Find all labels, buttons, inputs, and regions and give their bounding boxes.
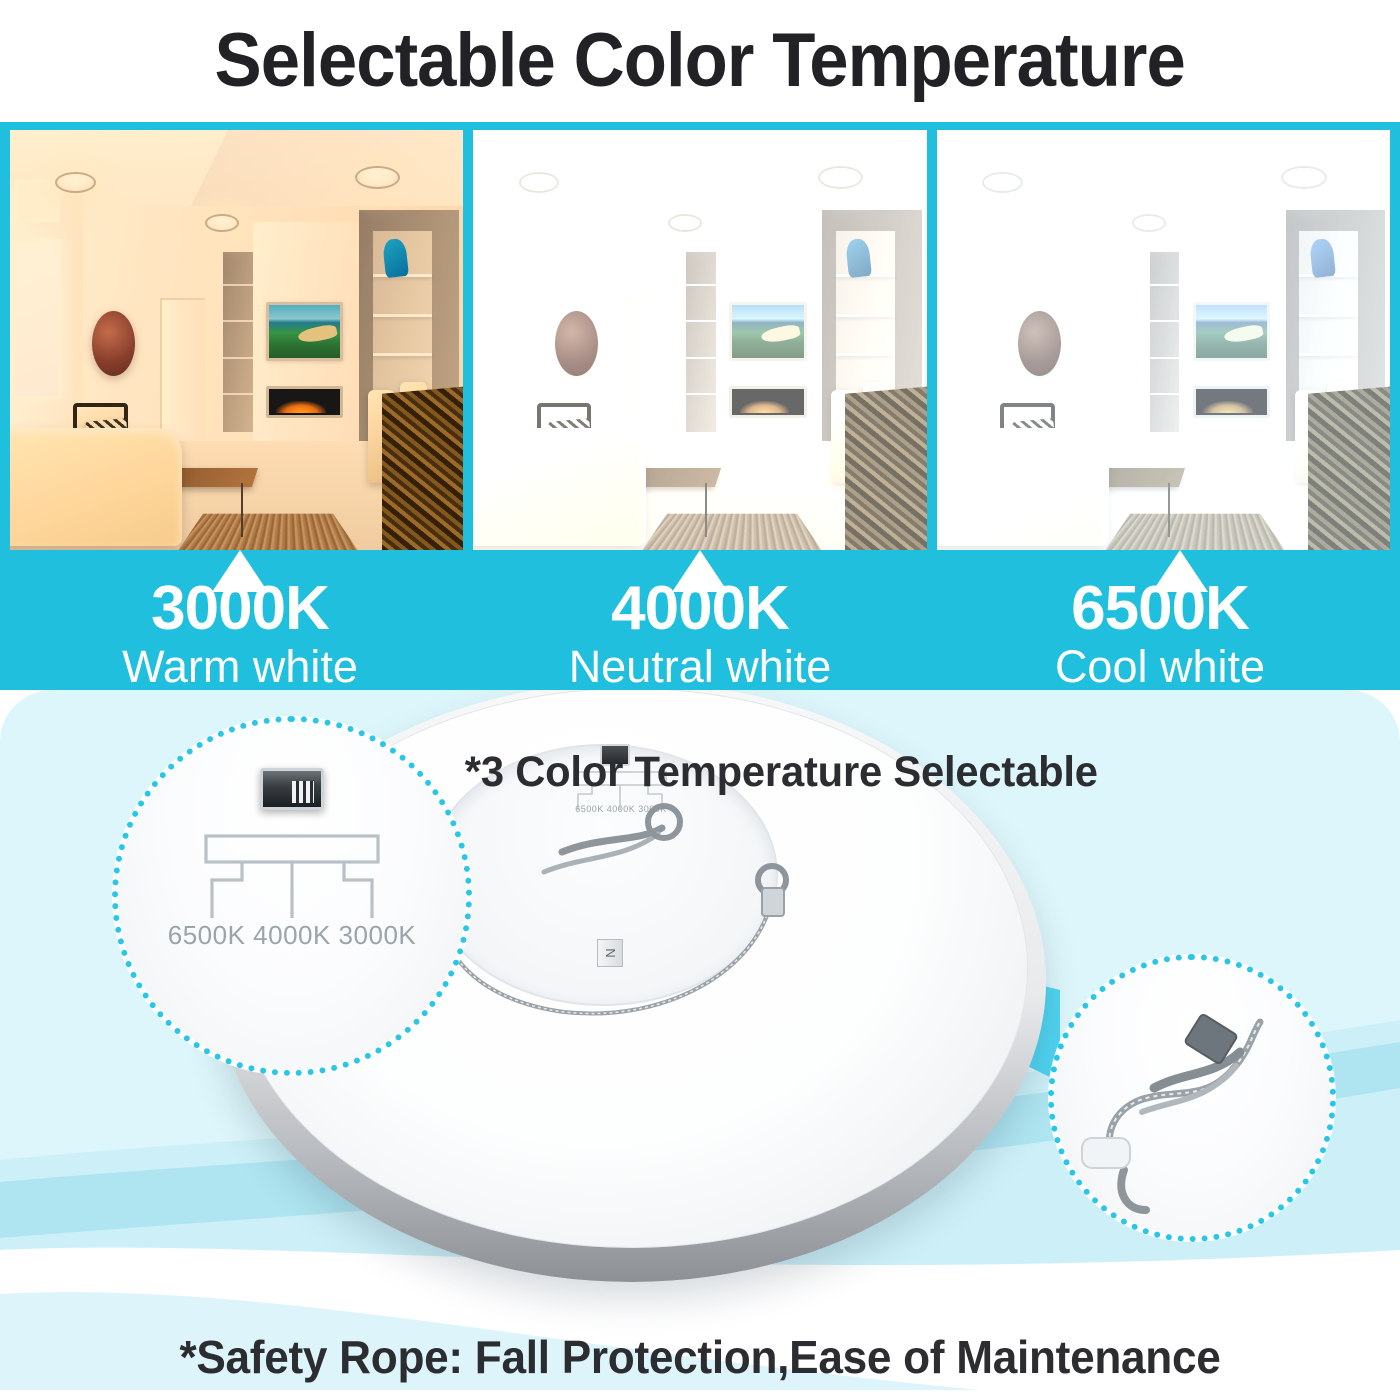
sofa-back bbox=[937, 445, 1064, 495]
floor bbox=[10, 441, 463, 550]
granite-island bbox=[1308, 387, 1390, 550]
right-cabinet bbox=[359, 210, 459, 445]
ceiling-lamp bbox=[205, 214, 239, 232]
tv-screen bbox=[732, 305, 803, 358]
back-wall bbox=[10, 206, 463, 466]
ceiling-lamp bbox=[355, 166, 400, 189]
kelvin-name: Warm white bbox=[10, 644, 470, 689]
accent-chair bbox=[1000, 403, 1054, 462]
door bbox=[623, 298, 668, 445]
ceiling-lamp bbox=[982, 172, 1023, 193]
ceiling-beam bbox=[1093, 130, 1390, 256]
zoomed-switch-options: 6500K 4000K 3000K bbox=[118, 920, 466, 951]
ceiling-lamp bbox=[818, 166, 863, 189]
ceiling-lamp bbox=[1281, 166, 1326, 189]
page-title: Selectable Color Temperature bbox=[215, 23, 1185, 99]
round-wall-art bbox=[1018, 311, 1061, 376]
tv-wall bbox=[1179, 222, 1288, 449]
granite-island bbox=[845, 387, 927, 550]
coffee-table bbox=[606, 468, 721, 487]
scene-panel-6500k bbox=[937, 130, 1390, 550]
ceiling-lamp bbox=[519, 172, 560, 193]
television bbox=[729, 302, 806, 361]
tv-wall bbox=[253, 222, 362, 449]
area-rug bbox=[1100, 514, 1290, 550]
display-niche bbox=[373, 231, 432, 428]
shelf-alcove bbox=[1150, 252, 1179, 433]
throw-pillow bbox=[85, 418, 129, 463]
shelf-alcove bbox=[223, 252, 252, 433]
page-header: Selectable Color Temperature bbox=[0, 0, 1400, 122]
right-cabinet bbox=[822, 210, 922, 445]
sofa-back bbox=[473, 445, 600, 495]
room-scene-neutral bbox=[473, 130, 926, 550]
linear-fireplace bbox=[729, 386, 806, 418]
blue-figurine bbox=[845, 238, 871, 278]
kelvin-name: Cool white bbox=[930, 644, 1390, 689]
round-wall-art bbox=[555, 311, 598, 376]
ceiling-lamp bbox=[55, 172, 96, 193]
sofa bbox=[473, 428, 645, 546]
kelvin-value: 6500K bbox=[930, 578, 1390, 640]
floor bbox=[937, 441, 1390, 550]
right-cabinet bbox=[1286, 210, 1386, 445]
coffee-table bbox=[1070, 468, 1185, 487]
bottom-caption: *Safety Rope: Fall Protection,Ease of Ma… bbox=[28, 1330, 1372, 1384]
back-wall bbox=[937, 206, 1390, 466]
back-wall bbox=[473, 206, 926, 466]
kelvin-value: 4000K bbox=[470, 578, 930, 640]
scene-panel-4000k bbox=[473, 130, 926, 550]
coffee-table bbox=[143, 468, 258, 487]
zoomed-dip-switch bbox=[260, 768, 324, 810]
zoomed-switch-diagram bbox=[182, 834, 402, 922]
ceiling bbox=[10, 130, 463, 269]
granite-island bbox=[382, 387, 464, 550]
window bbox=[12, 239, 62, 399]
sofa-back bbox=[10, 445, 137, 495]
kelvin-name: Neutral white bbox=[470, 644, 930, 689]
label-4000k: 4000K Neutral white bbox=[470, 578, 930, 689]
ceiling-beam bbox=[629, 130, 926, 256]
linear-fireplace bbox=[266, 386, 343, 418]
round-wall-art bbox=[92, 311, 135, 376]
mid-caption: *3 Color Temperature Selectable bbox=[465, 748, 1098, 797]
linear-fireplace bbox=[1193, 386, 1270, 418]
left-wall bbox=[937, 189, 1010, 466]
door bbox=[1086, 298, 1131, 445]
window bbox=[476, 239, 526, 399]
display-niche bbox=[836, 231, 895, 428]
ceiling-beam bbox=[166, 130, 463, 256]
ceiling-lamp bbox=[668, 214, 702, 232]
kelvin-value: 3000K bbox=[10, 578, 470, 640]
ceiling-lamp bbox=[1132, 214, 1166, 232]
switch-callout-circle: 6500K 4000K 3000K bbox=[112, 716, 472, 1076]
tv-screen bbox=[1196, 305, 1267, 358]
label-3000k: 3000K Warm white bbox=[10, 578, 470, 689]
ceiling bbox=[473, 130, 926, 269]
clerestory-window bbox=[941, 180, 986, 222]
tv-wall bbox=[716, 222, 825, 449]
safety-rope-assembly bbox=[412, 794, 812, 1024]
window bbox=[939, 239, 989, 399]
comparison-panels bbox=[10, 130, 1390, 550]
television bbox=[1193, 302, 1270, 361]
accent-chair bbox=[537, 403, 591, 462]
door bbox=[160, 298, 205, 445]
left-wall bbox=[10, 189, 83, 466]
room-scene-warm bbox=[10, 130, 463, 550]
left-wall bbox=[473, 189, 546, 466]
label-6500k: 6500K Cool white bbox=[930, 578, 1390, 689]
sofa bbox=[937, 428, 1109, 546]
blue-figurine bbox=[382, 238, 408, 278]
rope-callout-circle bbox=[1048, 954, 1336, 1242]
television bbox=[266, 302, 343, 361]
area-rug bbox=[173, 514, 363, 550]
throw-pillow bbox=[549, 418, 593, 463]
accent-chair bbox=[73, 403, 127, 462]
blue-figurine bbox=[1309, 238, 1335, 278]
ceiling bbox=[937, 130, 1390, 269]
wire-tag: N bbox=[597, 939, 623, 967]
area-rug bbox=[637, 514, 827, 550]
clerestory-window bbox=[478, 180, 523, 222]
throw-pillow bbox=[1012, 418, 1056, 463]
sofa bbox=[10, 428, 182, 546]
shelf-alcove bbox=[686, 252, 715, 433]
zoomed-rope-hook bbox=[1054, 960, 1336, 1242]
tv-screen bbox=[269, 305, 340, 358]
room-scene-cool bbox=[937, 130, 1390, 550]
scene-panel-3000k bbox=[10, 130, 463, 550]
clerestory-window bbox=[15, 180, 60, 222]
display-niche bbox=[1299, 231, 1358, 428]
floor bbox=[473, 441, 926, 550]
